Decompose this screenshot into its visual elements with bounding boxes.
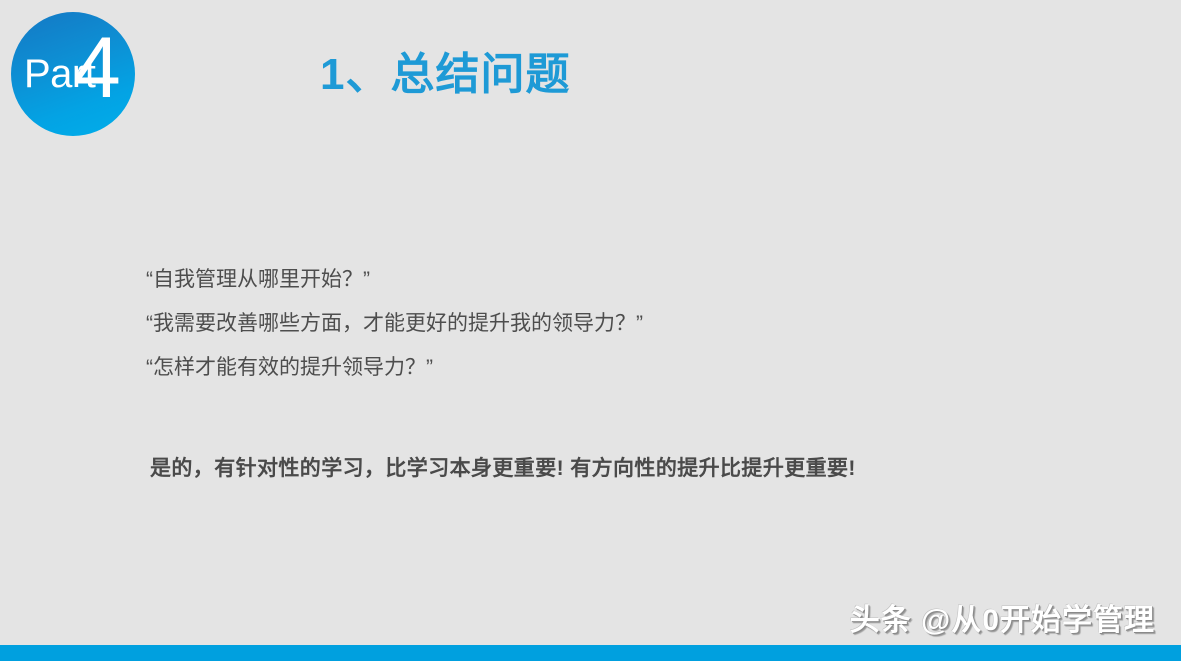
bottom-accent-bar — [0, 645, 1181, 661]
quote-line-2: “我需要改善哪些方面，才能更好的提升我的领导力？” — [146, 302, 1046, 346]
part-badge: Part 4 — [11, 12, 135, 136]
quote-block: “自我管理从哪里开始？” “我需要改善哪些方面，才能更好的提升我的领导力？” “… — [146, 258, 1046, 390]
emphasis-statement: 是的，有针对性的学习，比学习本身更重要! 有方向性的提升比提升更重要! — [150, 452, 856, 482]
quote-line-1: “自我管理从哪里开始？” — [146, 258, 1046, 302]
part-number: 4 — [73, 25, 121, 111]
quote-line-3: “怎样才能有效的提升领导力？” — [146, 346, 1046, 390]
watermark-text: 头条 @从0开始学管理 — [850, 595, 1155, 639]
slide-canvas: Part 4 1、总结问题 “自我管理从哪里开始？” “我需要改善哪些方面，才能… — [0, 0, 1181, 661]
page-title: 1、总结问题 — [320, 38, 570, 102]
